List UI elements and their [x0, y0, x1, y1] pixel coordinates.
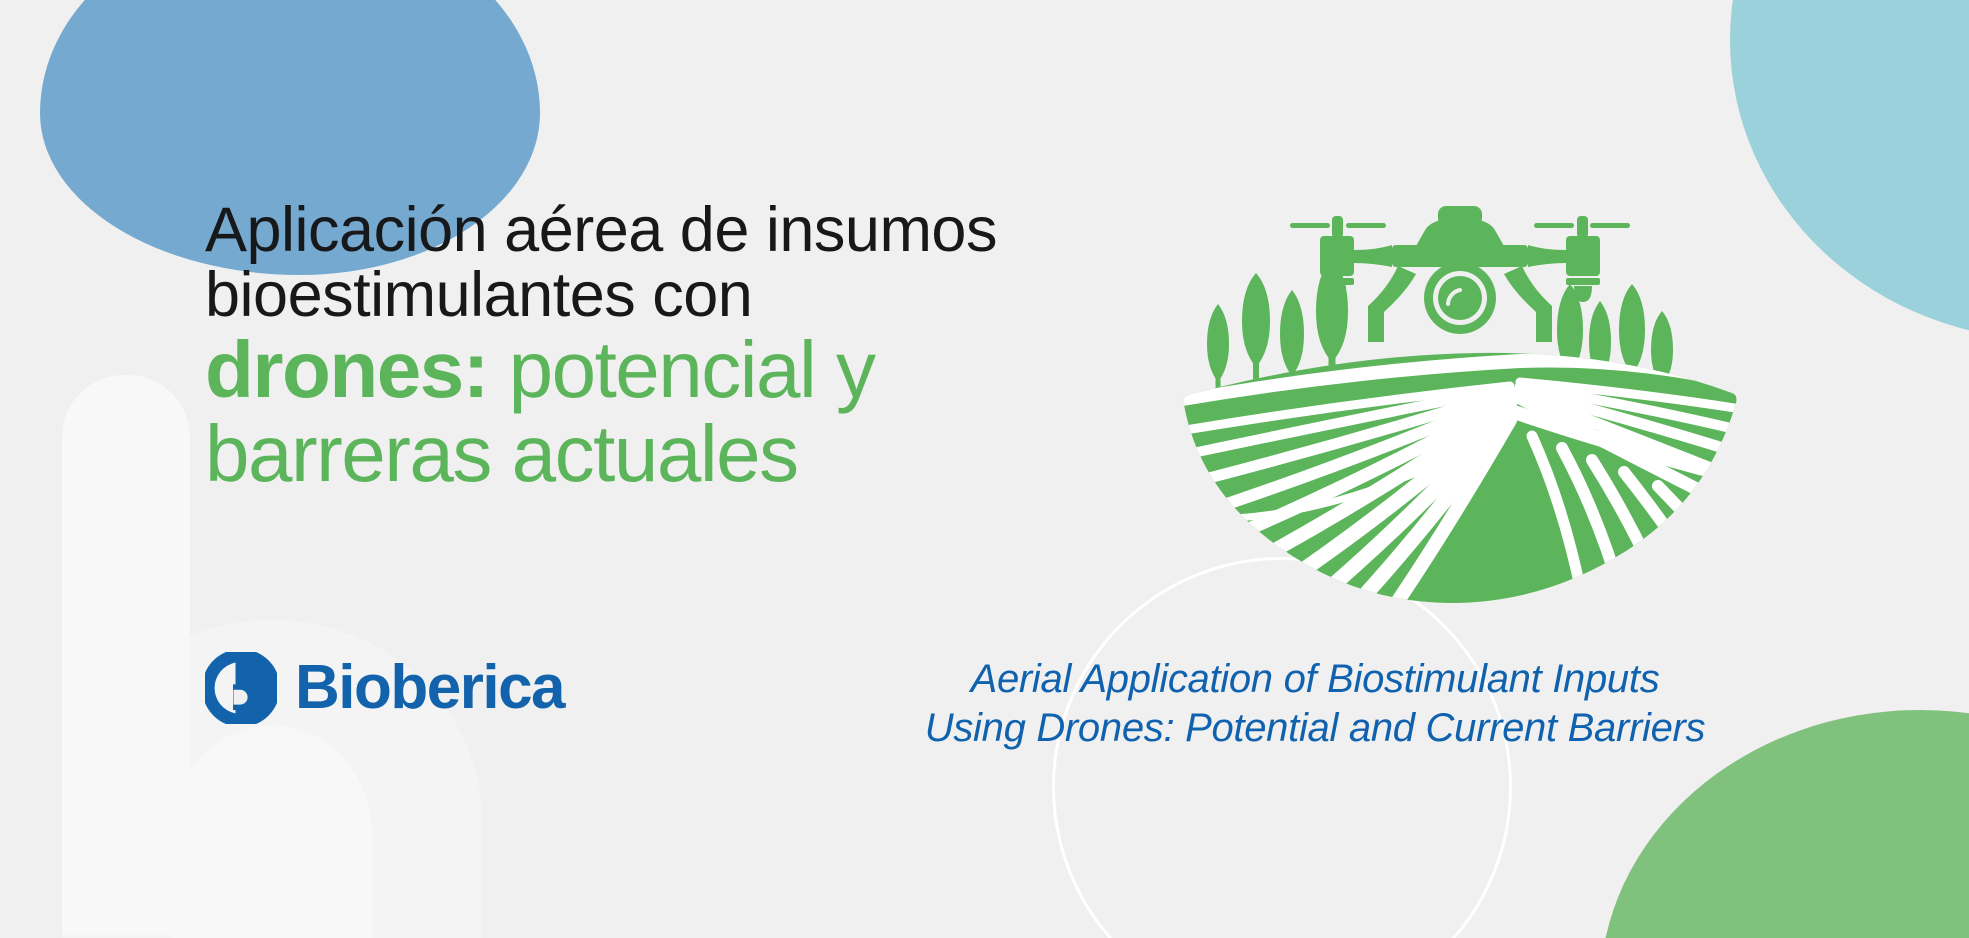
brand-wordmark: Bioberica [295, 657, 564, 719]
headline-line-1: Aplicación aérea de insumos [205, 198, 1135, 263]
subtitle: Aerial Application of Biostimulant Input… [700, 655, 1930, 753]
headline-line-3-rest: potencial y [488, 325, 875, 414]
page-title: Aplicación aérea de insumos bioestimulan… [205, 198, 1135, 496]
letter-b-watermark-counter [172, 725, 372, 938]
circle-blob-cyan [1730, 0, 1969, 340]
headline-keyword: drones: [205, 325, 488, 414]
subtitle-line-2: Using Drones: Potential and Current Barr… [700, 704, 1930, 753]
striped-farm-field-icon [1180, 340, 1740, 610]
headline-line-2: bioestimulantes con [205, 263, 1135, 328]
brand-logo: Bioberica [205, 652, 564, 724]
headline-line-4: barreras actuales [205, 412, 1135, 496]
subtitle-line-1: Aerial Application of Biostimulant Input… [700, 655, 1930, 704]
bioiberica-logo-mark-icon [205, 652, 277, 724]
drone-over-farm-field-illustration [1180, 200, 1740, 610]
letter-b-watermark-stem [62, 375, 190, 935]
poster-canvas: Aplicación aérea de insumos bioestimulan… [0, 0, 1969, 938]
headline-line-3: drones: potencial y [205, 328, 1135, 412]
